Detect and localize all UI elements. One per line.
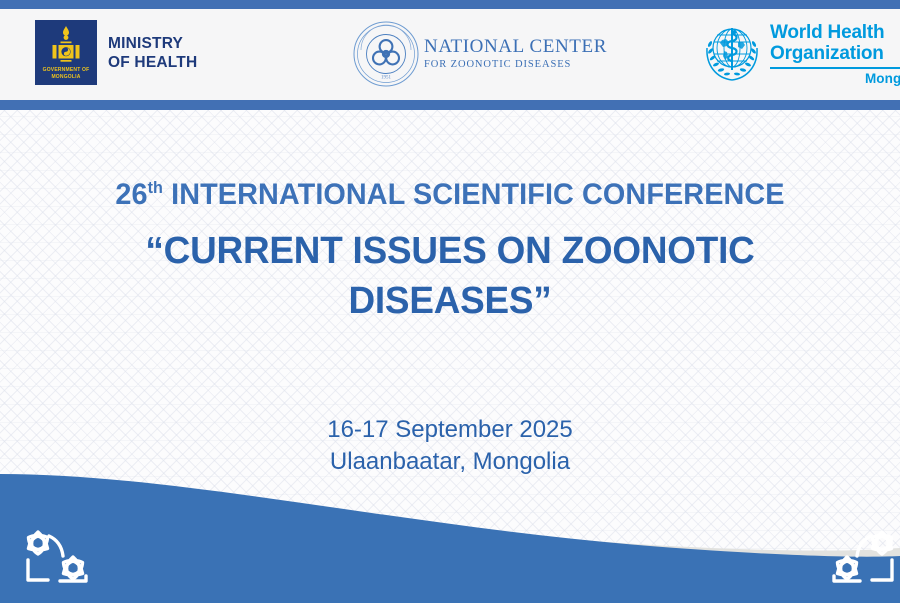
triquetra-knot-ornament-right-icon [812, 524, 900, 592]
bottom-wave-banner [0, 440, 900, 603]
crest-caption-line2: MONGOLIA [51, 74, 80, 80]
biohazard-seal-icon: 1951 [352, 20, 420, 88]
who-name-block: World Health Organization Mongolia [770, 22, 900, 86]
ministry-of-health-name: MINISTRY OF HEALTH [108, 34, 197, 72]
top-accent-bar [0, 0, 900, 9]
national-center-zoonotic-diseases-logo: 1951 NATIONAL CENTER FOR ZOONOTIC DISEAS… [352, 20, 607, 88]
conference-theme-line1: “CURRENT ISSUES ON ZOONOTIC [14, 226, 887, 276]
ministry-name-line2: OF HEALTH [108, 53, 197, 72]
triquetra-knot-ornament-left-icon [16, 524, 108, 592]
who-name-line2: Organization [770, 43, 900, 64]
who-rod-of-asclepius-emblem-icon [700, 20, 764, 84]
conference-line: 26th INTERNATIONAL SCIENTIFIC CONFERENCE [18, 176, 882, 214]
who-name-divider [770, 67, 900, 69]
ncz-name-line1: NATIONAL CENTER [424, 36, 607, 58]
who-mongolia-logo: World Health Organization Mongolia [700, 20, 900, 86]
crest-caption: GOVERNMENT OF MONGOLIA [35, 67, 97, 80]
national-center-name: NATIONAL CENTER FOR ZOONOTIC DISEASES [424, 36, 607, 72]
edition-number: 26 [115, 178, 147, 211]
conference-theme: “CURRENT ISSUES ON ZOONOTIC DISEASES” [14, 226, 887, 326]
header-divider-bar [0, 100, 900, 110]
conference-label: INTERNATIONAL SCIENTIFIC CONFERENCE [163, 178, 785, 211]
crest-caption-line1: GOVERNMENT OF [43, 67, 90, 73]
ministry-of-health-logo: GOVERNMENT OF MONGOLIA MINISTRY OF HEALT… [35, 20, 197, 85]
mongolia-soyombo-crest-icon [46, 24, 86, 68]
ncz-name-line2: FOR ZOONOTIC DISEASES [424, 58, 607, 72]
mongolia-government-crest: GOVERNMENT OF MONGOLIA [35, 20, 97, 85]
who-name-line1: World Health [770, 22, 900, 43]
conference-theme-line2: DISEASES” [14, 276, 887, 326]
ministry-name-line1: MINISTRY [108, 34, 197, 53]
wave-blue-layer [0, 474, 900, 603]
edition-suffix: th [148, 178, 163, 197]
who-country-label: Mongolia [770, 71, 900, 86]
title-block: 26th INTERNATIONAL SCIENTIFIC CONFERENCE… [0, 176, 900, 326]
seal-year-text: 1951 [381, 76, 392, 81]
conference-title-slide: GOVERNMENT OF MONGOLIA MINISTRY OF HEALT… [0, 0, 900, 603]
